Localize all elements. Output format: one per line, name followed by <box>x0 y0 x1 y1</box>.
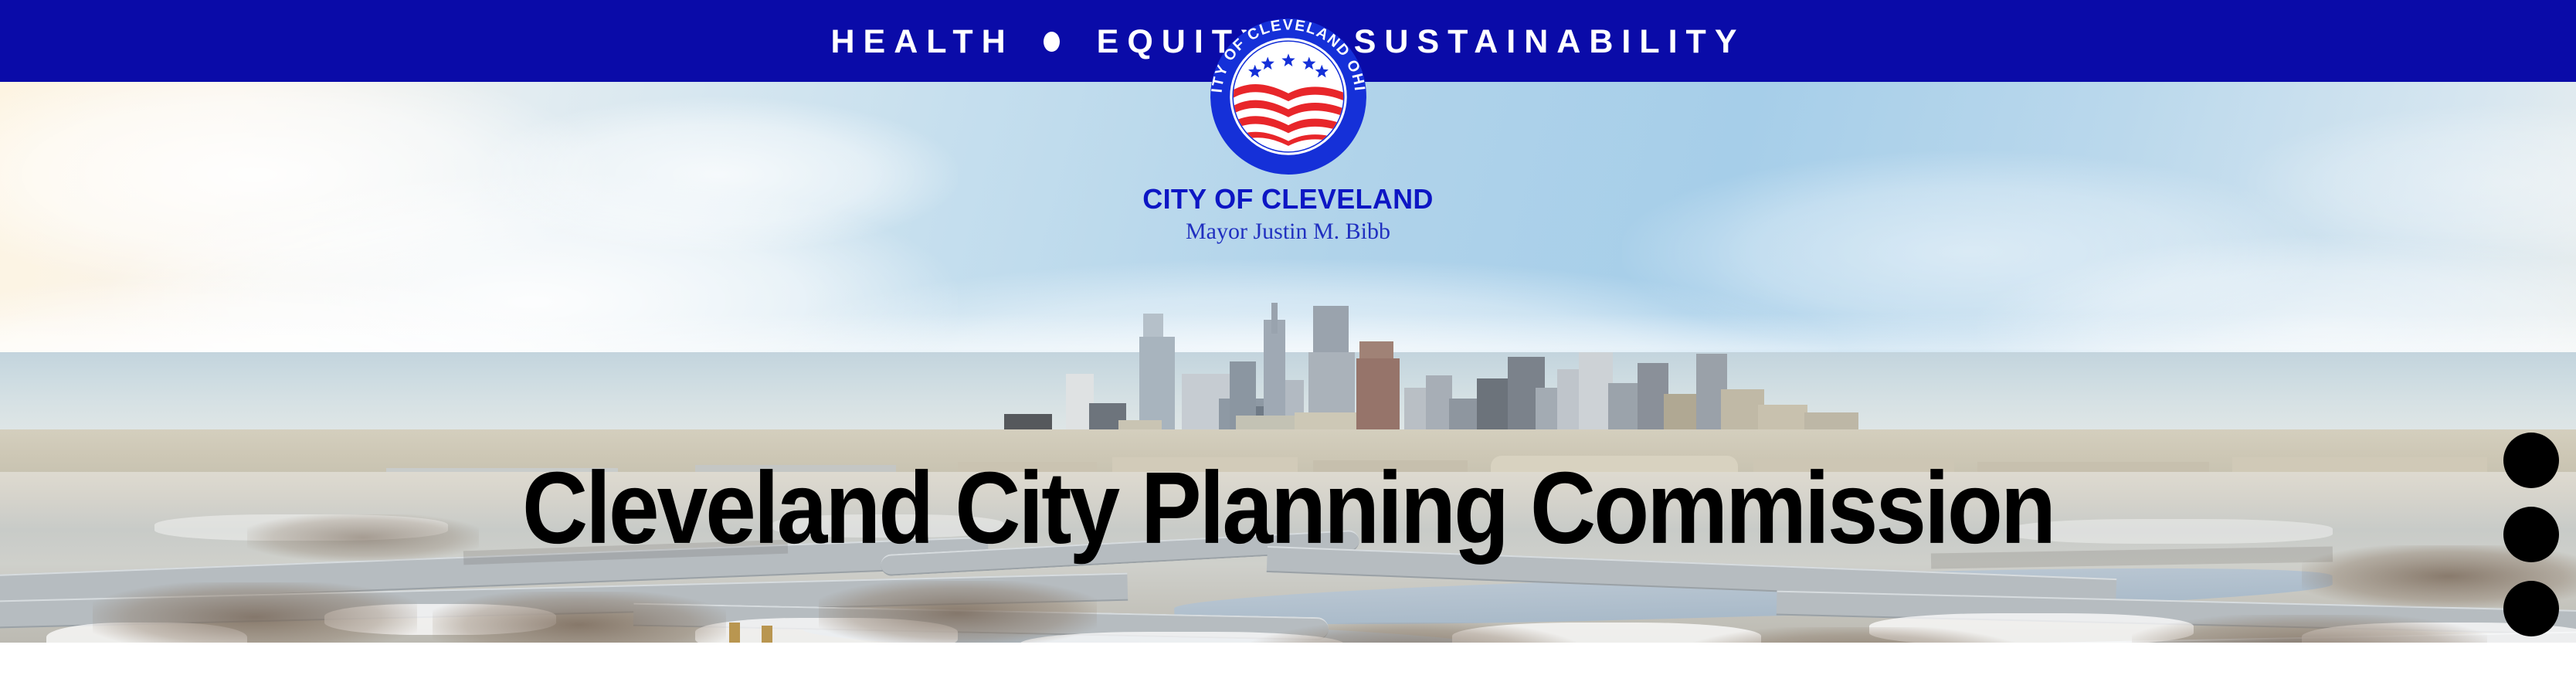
snow-patch <box>2008 519 2333 544</box>
social-link-youtube[interactable] <box>2503 433 2559 488</box>
social-link-instagram[interactable] <box>2503 507 2559 562</box>
city-of-cleveland-seal-icon: CITY OF CLEVELAND OHIO <box>1209 17 1368 176</box>
bottom-white-strip <box>0 643 2576 682</box>
tree-clump <box>1684 627 2024 643</box>
social-links-rail <box>2503 433 2559 636</box>
instagram-icon <box>2515 518 2547 551</box>
tree-clump <box>1251 623 1576 643</box>
brand-city-name: CITY OF CLEVELAND <box>1142 185 1433 213</box>
city-brand-block: CITY OF CLEVELAND OHIO <box>0 17 2576 243</box>
tree-clump <box>433 592 726 643</box>
tree-clump <box>247 514 479 561</box>
page-root: HEALTH EQUITY SUSTAINABILITY <box>0 0 2576 682</box>
church-spire <box>762 626 772 643</box>
snow-patch <box>772 514 1004 538</box>
tree-clump <box>93 582 417 643</box>
youtube-icon <box>2515 444 2547 477</box>
brand-mayor-name: Mayor Justin M. Bibb <box>1186 220 1390 243</box>
social-link-facebook[interactable] <box>2503 581 2559 636</box>
tree-clump <box>819 581 1097 643</box>
tree-clump <box>2132 615 2487 643</box>
facebook-icon <box>2515 592 2547 625</box>
church-spire <box>729 623 740 643</box>
building-terminal-spire <box>1271 303 1278 334</box>
